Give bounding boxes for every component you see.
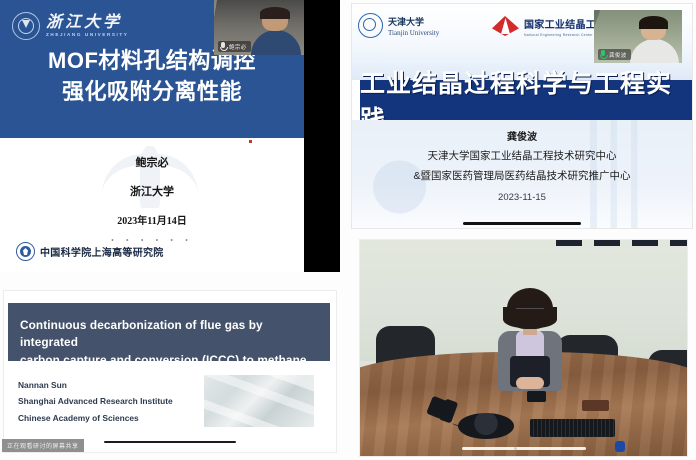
slide-title: MOF材料孔结构调控 强化吸附分离性能 [0,46,304,106]
crystal-diamond-icon [492,14,519,39]
slide-canvas-iccc: Continuous decarbonization of flue gas b… [4,291,336,452]
participant-name-badge: 鲍宗必 [218,41,251,52]
slide-title-line1: Continuous decarbonization of flue gas b… [20,317,324,352]
cas-footer-logo: 中国科学院上海高等研究院 [16,242,164,261]
presenter-affiliation-2: &暨国家医药管理局医药结晶技术研究推广中心 [352,168,692,183]
cas-footer-label: 中国科学院上海高等研究院 [40,244,164,259]
presenter-name: 龚俊波 [352,128,692,143]
wall-decoration [556,240,687,246]
person-hair [639,16,668,30]
person-body [251,30,302,55]
slide-photo-thumbnail [204,375,314,427]
horizontal-scrollbar[interactable] [462,447,586,450]
slide-title-line2: 强化吸附分离性能 [0,77,304,107]
participant-name-badge: 龚俊波 [598,49,631,60]
mic-muted-icon [220,42,226,51]
person-body [630,39,679,63]
presenter-thumbnail-gong[interactable]: 龚俊波 [594,10,682,63]
university-seal-icon [12,12,40,40]
video-feed [360,240,687,456]
slide-body: 鲍宗必 浙江大学 2023年11月14日 • • • • • • 中国科学院上海… [0,138,304,272]
mic-active-icon [600,50,606,59]
tile-shared-screen-tianjin[interactable]: 天津大学 Tianjin University 国家工业结晶工程技术研究中心 N… [352,4,692,228]
slide-title: Continuous decarbonization of flue gas b… [20,317,324,369]
university-seal-icon [358,13,383,38]
screen-share-badge: 正在观看研讨的屏幕共享 [2,439,84,452]
logo-en-label: Tianjin University [388,29,439,37]
participant-name: 龚俊波 [609,51,627,59]
slide-title: 工业结晶过程科学与工程实践 [360,80,692,120]
presentation-date: 2023年11月14日 [0,212,304,227]
logo-en-label: ZHEJIANG UNIVERSITY [46,33,128,38]
author-org-1: Shanghai Advanced Research Institute [18,393,173,409]
author-name: Nannan Sun [18,377,173,393]
slide-body: 龚俊波 天津大学国家工业结晶工程技术研究中心 &暨国家医药管理局医药结晶技术研究… [352,120,692,228]
conference-speakerphone [458,413,514,439]
presenter-name: 鲍宗必 [0,154,304,170]
author-org-2: Chinese Academy of Sciences [18,410,173,426]
tile-shared-screen-zhejiang[interactable]: 浙江大学 ZHEJIANG UNIVERSITY MOF材料孔结构调控 强化吸附… [0,0,340,272]
slide-title-band: 工业结晶过程科学与工程实践 [360,80,692,120]
presenter-affiliation: 浙江大学 [0,183,304,199]
author-block: Nannan Sun Shanghai Advanced Research In… [18,377,173,426]
horizontal-scrollbar[interactable] [463,222,581,225]
tile-shared-screen-iccc[interactable]: Continuous decarbonization of flue gas b… [0,283,340,460]
horizontal-scrollbar[interactable] [104,441,236,444]
wallet [582,400,608,411]
participant-name: 鲍宗必 [229,43,247,51]
mobile-phone [527,391,547,402]
tile-live-video-conference-room[interactable] [352,236,692,460]
slide-title-band: Continuous decarbonization of flue gas b… [8,303,330,361]
person-figure [494,288,566,392]
presentation-date: 2023-11-15 [352,192,692,203]
glasses-icon [516,308,545,316]
zhejiang-university-logo: 浙江大学 ZHEJIANG UNIVERSITY [12,12,128,40]
slide-title-line2: carbon capture and conversion (ICCC) to … [20,352,324,369]
person-figure [633,18,681,63]
presenter-thumbnail-bao[interactable]: 鲍宗必 [214,0,304,55]
video-conference-grid: 浙江大学 ZHEJIANG UNIVERSITY MOF材料孔结构调控 强化吸附… [0,0,696,460]
person-figure [254,9,303,55]
cas-seal-icon [16,242,35,261]
person-hair [260,7,289,19]
red-marker-dot-icon [249,140,252,143]
tianjin-university-logo: 天津大学 Tianjin University [358,13,439,38]
pen [615,441,625,452]
logo-cn-label: 天津大学 [388,15,439,28]
logo-cn-label: 浙江大学 [46,15,128,31]
keyboard [530,419,615,436]
presenter-affiliation-1: 天津大学国家工业结晶工程技术研究中心 [352,148,692,163]
person-hands [516,377,545,389]
